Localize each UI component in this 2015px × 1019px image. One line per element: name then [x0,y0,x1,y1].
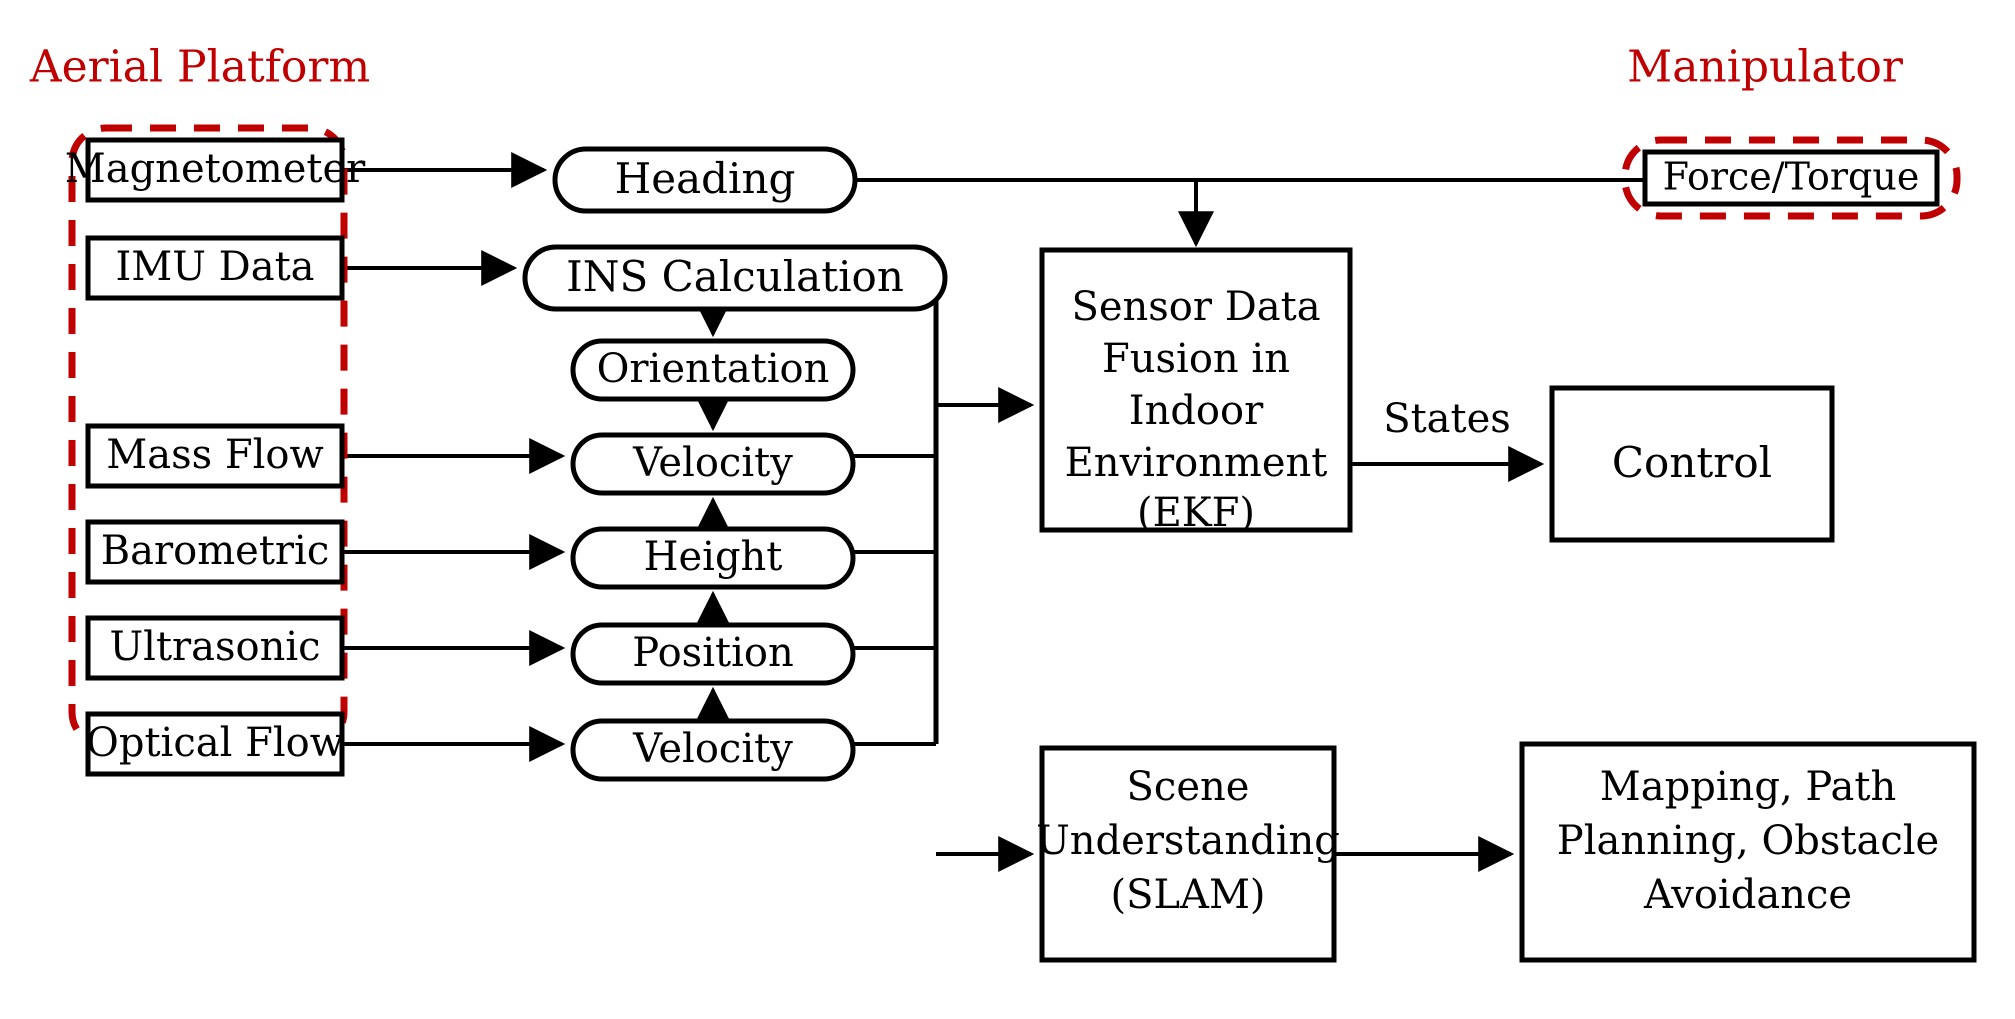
diagram-svg: Aerial Platform Manipulator Magnetometer… [0,0,2015,1019]
state-nodes-layer: Heading INS Calculation Orientation Velo… [525,149,945,779]
node-mapping-label-line2: Planning, Obstacle [1557,818,1939,864]
node-ekf-label-line1: Sensor Data [1071,284,1320,330]
node-heading[interactable]: Heading [555,149,855,211]
node-height-label: Height [644,534,783,580]
node-position[interactable]: Position [573,625,853,683]
group-aerial-platform-label: Aerial Platform [29,42,370,93]
node-magnetometer-label: Magnetometer [65,146,366,192]
node-slam-label-line2: Understanding [1036,818,1340,864]
node-imu-data[interactable]: IMU Data [88,238,342,298]
node-force-torque-label: Force/Torque [1663,155,1920,199]
edge-labels-layer: States [1383,396,1511,442]
node-velocity-top[interactable]: Velocity [573,435,853,493]
diagram-canvas: Aerial Platform Manipulator Magnetometer… [0,0,2015,1019]
process-boxes-layer: Force/Torque Sensor Data Fusion in Indoo… [1036,152,1974,960]
node-height[interactable]: Height [573,529,853,587]
node-orientation-label: Orientation [597,346,830,392]
node-heading-label: Heading [615,154,796,203]
node-mapping-label-line1: Mapping, Path [1600,764,1896,810]
node-slam[interactable]: Scene Understanding (SLAM) [1036,748,1340,960]
node-ekf[interactable]: Sensor Data Fusion in Indoor Environment… [1042,250,1350,536]
node-ekf-label-line2: Fusion in [1102,336,1290,382]
group-manipulator-label: Manipulator [1627,42,1904,93]
node-ultrasonic-label: Ultrasonic [109,624,320,670]
node-mass-flow[interactable]: Mass Flow [88,426,342,486]
sensor-boxes-layer: Magnetometer IMU Data Mass Flow Barometr… [65,140,366,774]
node-ekf-label-line4: Environment [1065,440,1328,486]
node-imu-data-label: IMU Data [115,244,314,290]
node-control[interactable]: Control [1552,388,1832,540]
node-mass-flow-label: Mass Flow [106,432,323,478]
node-ins-calculation[interactable]: INS Calculation [525,247,945,309]
node-optical-flow-label: Optical Flow [86,720,344,766]
node-position-label: Position [632,630,793,676]
node-force-torque[interactable]: Force/Torque [1645,152,1937,204]
node-barometric[interactable]: Barometric [88,522,342,582]
node-mapping[interactable]: Mapping, Path Planning, Obstacle Avoidan… [1522,744,1974,960]
node-barometric-label: Barometric [101,528,329,574]
node-orientation[interactable]: Orientation [573,341,853,399]
node-mapping-label-line3: Avoidance [1643,872,1852,918]
node-ins-calculation-label: INS Calculation [566,252,904,301]
node-velocity-bottom-label: Velocity [632,726,793,772]
node-ekf-label-line5: (EKF) [1137,490,1255,536]
node-velocity-top-label: Velocity [632,440,793,486]
node-velocity-bottom[interactable]: Velocity [573,721,853,779]
node-slam-label-line3: (SLAM) [1110,872,1265,918]
node-control-label: Control [1612,438,1772,487]
node-slam-label-line1: Scene [1127,764,1250,810]
edge-label-states: States [1383,396,1511,442]
node-ultrasonic[interactable]: Ultrasonic [88,618,342,678]
node-optical-flow[interactable]: Optical Flow [86,714,344,774]
node-ekf-label-line3: Indoor [1129,388,1264,434]
node-magnetometer[interactable]: Magnetometer [65,140,366,200]
